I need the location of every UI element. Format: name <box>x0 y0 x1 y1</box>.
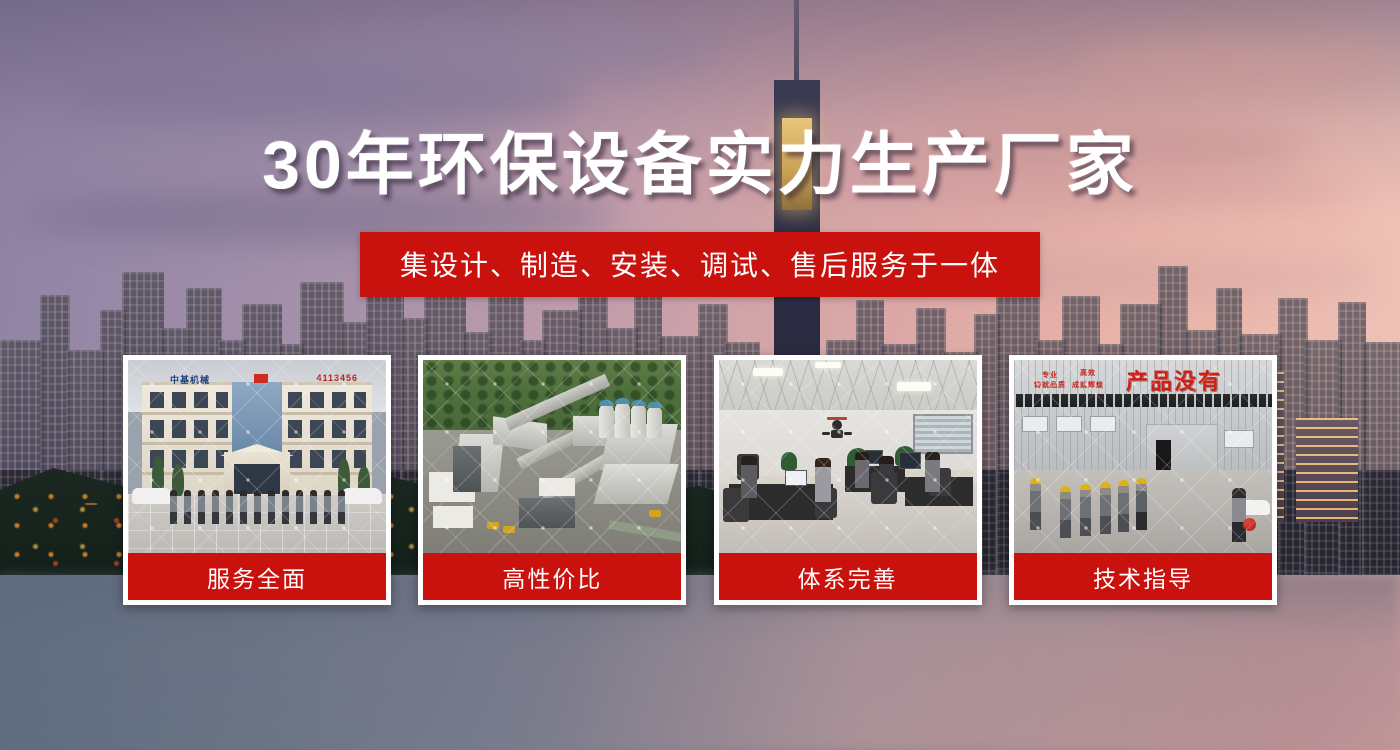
feature-card[interactable]: 高性价比 <box>418 355 686 605</box>
wall-decal-icon <box>819 416 855 442</box>
factory-slogan-4: 成就辉煌 <box>1072 380 1104 390</box>
feature-card[interactable]: 中基机械 4113456 <box>123 355 391 605</box>
card-caption: 体系完善 <box>719 553 977 600</box>
subtitle-banner: 集设计、制造、安装、调试、售后服务于一体 <box>360 232 1040 297</box>
photo-phone-sign: 4113456 <box>316 373 358 383</box>
card-photo-company-building: 中基机械 4113456 <box>128 360 386 553</box>
factory-main-sign: 产品没有 <box>1126 364 1222 396</box>
illuminated-building <box>1296 418 1358 522</box>
card-photo-office-interior <box>719 360 977 553</box>
factory-slogan-3: 铸就品质 <box>1034 380 1066 390</box>
card-photo-worker-briefing: 专业 铸就品质 高效 成就辉煌 产品没有 <box>1014 360 1272 553</box>
feature-card[interactable]: 体系完善 <box>714 355 982 605</box>
card-caption: 高性价比 <box>423 553 681 600</box>
photo-company-sign: 中基机械 <box>170 373 210 386</box>
feature-card[interactable]: 专业 铸就品质 高效 成就辉煌 产品没有 <box>1009 355 1277 605</box>
promo-banner: 30年环保设备实力生产厂家 集设计、制造、安装、调试、售后服务于一体 <box>0 0 1400 750</box>
feature-card-row: 中基机械 4113456 <box>123 355 1277 605</box>
factory-slogan-1: 专业 <box>1042 370 1058 380</box>
safety-helmet-red <box>1243 518 1256 531</box>
card-caption: 服务全面 <box>128 553 386 600</box>
factory-slogan-2: 高效 <box>1080 368 1096 378</box>
card-caption: 技术指导 <box>1014 553 1272 600</box>
page-title: 30年环保设备实力生产厂家 <box>0 128 1400 203</box>
subtitle-banner-wrap: 集设计、制造、安装、调试、售后服务于一体 <box>0 232 1400 297</box>
card-photo-industrial-plant <box>423 360 681 553</box>
